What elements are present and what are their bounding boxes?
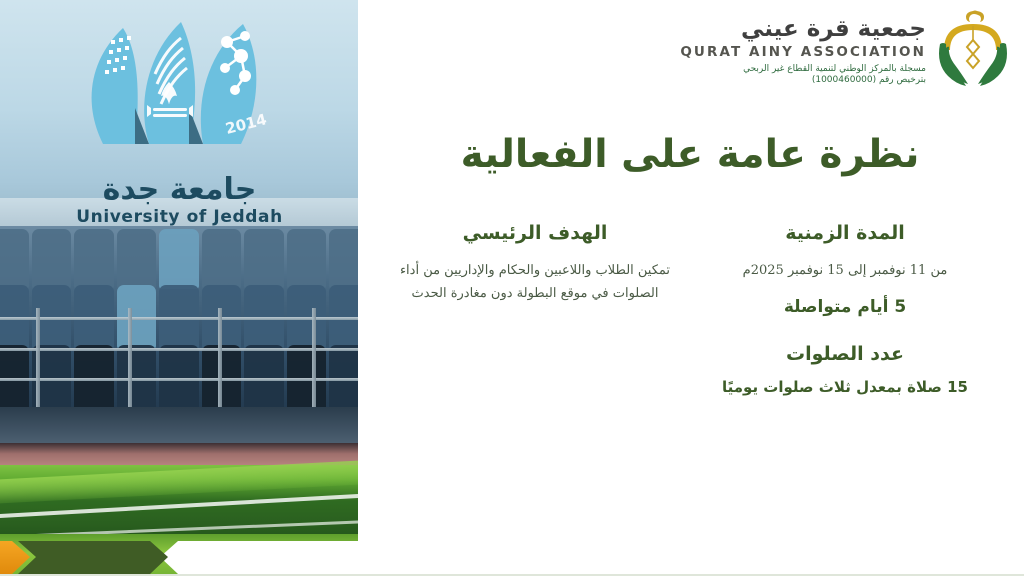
duration-heading: المدة الزمنية bbox=[704, 222, 986, 244]
seat bbox=[0, 229, 29, 289]
content-area: نظرة عامة على الفعالية المدة الزمنية من … bbox=[380, 0, 1014, 540]
main-goal-body: تمكين الطلاب واللاعبين والحكام والإداريي… bbox=[394, 260, 676, 306]
railing-bar bbox=[0, 348, 358, 351]
chevron-dark-green bbox=[18, 541, 168, 574]
column-duration: المدة الزمنية من 11 نوفمبر إلى 15 نوفمبر… bbox=[690, 222, 1000, 396]
slide-root: 2014 جامعة جدة University of Jeddah جمعي… bbox=[0, 0, 1024, 576]
stadium-photo: 2014 جامعة جدة University of Jeddah bbox=[0, 0, 358, 550]
bottom-decoration-bar bbox=[0, 534, 1024, 576]
university-name-arabic: جامعة جدة bbox=[62, 174, 297, 206]
seat bbox=[202, 229, 242, 289]
university-name-english: University of Jeddah bbox=[62, 207, 297, 227]
university-of-jeddah-logo: 2014 جامعة جدة University of Jeddah bbox=[62, 12, 297, 227]
seat bbox=[159, 229, 199, 289]
railing-bar bbox=[0, 317, 358, 320]
seat bbox=[117, 229, 157, 289]
duration-dates: من 11 نوفمبر إلى 15 نوفمبر 2025م bbox=[704, 260, 986, 283]
column-main-goal: الهدف الرئيسي تمكين الطلاب واللاعبين وال… bbox=[380, 222, 690, 396]
duration-days: 5 أيام متواصلة bbox=[704, 297, 986, 317]
railing-bar bbox=[0, 378, 358, 381]
jeddah-leaves-icon: 2014 bbox=[75, 12, 285, 172]
prayer-count-value: 15 صلاة بمعدل ثلاث صلوات يوميًا bbox=[704, 378, 986, 396]
seat bbox=[32, 229, 72, 289]
seat-row bbox=[0, 229, 358, 289]
prayer-count-heading: عدد الصلوات bbox=[704, 343, 986, 365]
seat bbox=[74, 229, 114, 289]
seat bbox=[329, 229, 358, 289]
prayer-count-section: عدد الصلوات 15 صلاة بمعدل ثلاث صلوات يوم… bbox=[704, 343, 986, 396]
seat bbox=[287, 229, 327, 289]
info-columns: المدة الزمنية من 11 نوفمبر إلى 15 نوفمبر… bbox=[380, 222, 1000, 396]
page-title: نظرة عامة على الفعالية bbox=[380, 132, 1000, 177]
safety-railing bbox=[0, 308, 358, 418]
seat bbox=[244, 229, 284, 289]
main-goal-heading: الهدف الرئيسي bbox=[394, 222, 676, 244]
